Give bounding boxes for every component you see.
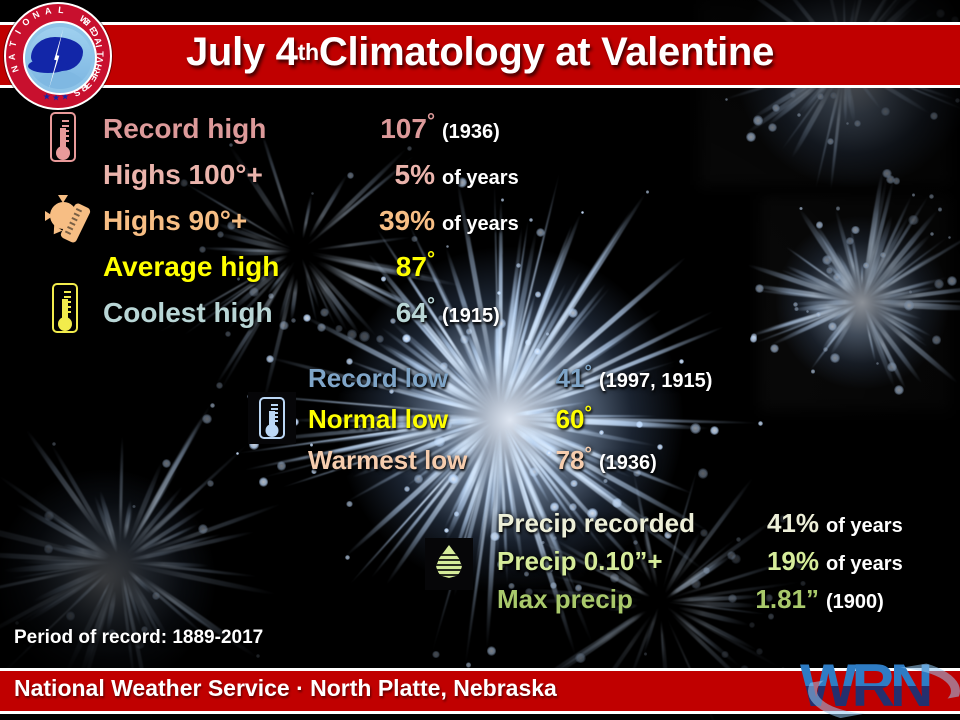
firework-spark <box>908 215 918 225</box>
firework-spark <box>198 524 208 534</box>
firework-spark <box>359 331 370 342</box>
firework-spark <box>259 477 268 486</box>
firework-spark <box>930 232 934 236</box>
degree-symbol: ° <box>585 401 592 422</box>
row-value: 41% <box>737 508 819 539</box>
climatology-row: Record high107°(1936) <box>103 113 500 145</box>
row-label: Max precip <box>497 584 737 615</box>
row-value: 41° <box>520 363 592 394</box>
firework-spark <box>15 621 18 624</box>
firework-spark <box>535 291 541 297</box>
row-year: (1936) <box>442 121 500 144</box>
climatology-row: Average high87° <box>103 251 435 283</box>
climatology-row: Warmest low78°(1936) <box>308 445 657 476</box>
firework-spark <box>947 276 956 285</box>
row-year: (1915) <box>442 305 500 328</box>
firework-spark <box>44 511 54 521</box>
firework-spark <box>955 98 960 103</box>
firework-spark <box>816 221 824 229</box>
firework-spark <box>936 9 944 17</box>
firework-spark <box>909 290 912 293</box>
sun-thermometer-icon <box>48 200 92 244</box>
firework-spark <box>487 646 497 656</box>
row-value: 1.81” <box>737 584 819 615</box>
row-year: (1997, 1915) <box>599 370 712 393</box>
firework-spark <box>811 369 816 374</box>
firework-spark <box>66 611 75 620</box>
row-label: Record high <box>103 113 345 145</box>
row-label: Precip 0.10”+ <box>497 546 737 577</box>
climatology-row: Precip recorded41%of years <box>497 508 903 539</box>
degree-symbol: ° <box>427 295 435 317</box>
climatology-row: Highs 90°+39%of years <box>103 205 519 237</box>
title-suffix: Climatology at Valentine <box>319 30 774 75</box>
row-label: Normal low <box>308 404 520 435</box>
firework-spark <box>912 193 916 197</box>
firework-spark <box>830 353 840 363</box>
firework-ray <box>873 300 903 304</box>
firework-spark <box>836 206 841 211</box>
firework-spark <box>570 480 577 487</box>
wrn-logo: WRN WRN <box>800 652 950 720</box>
title-prefix: July 4 <box>186 30 298 75</box>
row-label: Warmest low <box>308 445 520 476</box>
firework-spark <box>698 468 708 478</box>
climatology-row: Max precip1.81”(1900) <box>497 584 884 615</box>
firework-spark <box>854 120 861 127</box>
firework-spark <box>376 335 383 342</box>
firework-spark <box>904 300 915 311</box>
row-label: Highs 100°+ <box>103 159 345 191</box>
slide-canvas: July 4th Climatology at Valentine NATION… <box>0 0 960 720</box>
firework-spark <box>346 501 353 508</box>
row-label: Precip recorded <box>497 508 737 539</box>
period-of-record: Period of record: 1889-2017 <box>14 627 263 649</box>
firework-spark <box>541 541 544 544</box>
firework-spark <box>881 107 890 116</box>
firework-spark <box>407 146 412 151</box>
firework-spark <box>710 426 719 435</box>
firework-spark <box>225 331 231 337</box>
row-label: Record low <box>308 363 520 394</box>
climatology-row: Record low41°(1997, 1915) <box>308 363 712 394</box>
row-unit: of years <box>442 213 519 236</box>
firework-spark <box>929 194 934 199</box>
firework-spark <box>311 192 314 195</box>
firework-spark <box>501 198 504 201</box>
firework-spark <box>690 423 701 434</box>
firework-spark <box>799 207 803 211</box>
firework-spark <box>863 262 869 268</box>
nws-logo: NATIONAL WEATHERSERVICE★★★ <box>4 2 112 110</box>
row-value: 107° <box>345 113 435 145</box>
firework-spark <box>749 622 755 628</box>
row-label: Coolest high <box>103 297 345 329</box>
row-value: 39% <box>345 205 435 237</box>
firework-spark <box>768 123 777 132</box>
row-unit: of years <box>826 515 903 538</box>
firework-spark <box>772 104 780 112</box>
firework-spark <box>770 344 779 353</box>
nws-logo-inner <box>23 21 97 95</box>
thermometer-red-icon <box>50 112 76 162</box>
firework-spark <box>277 461 286 470</box>
firework-spark <box>210 403 215 408</box>
degree-symbol: ° <box>427 249 435 271</box>
firework-spark <box>823 347 828 352</box>
firework-spark <box>758 421 763 426</box>
thermometer-blue-icon <box>259 397 285 439</box>
row-value: 87° <box>345 251 435 283</box>
row-unit: of years <box>826 553 903 576</box>
firework-spark <box>794 307 799 312</box>
firework-spark <box>646 190 649 193</box>
row-label: Average high <box>103 251 345 283</box>
firework-spark <box>466 662 471 667</box>
firework-spark <box>256 654 260 658</box>
firework-spark <box>746 132 756 142</box>
row-unit: of years <box>442 167 519 190</box>
firework-spark <box>432 651 440 659</box>
climatology-row: Highs 100°+5%of years <box>103 159 519 191</box>
firework-spark <box>751 333 758 340</box>
degree-symbol: ° <box>585 360 592 381</box>
firework-spark <box>644 652 648 656</box>
climatology-row: Precip 0.10”+19%of years <box>497 546 903 577</box>
degree-symbol: ° <box>585 442 592 463</box>
row-value: 19% <box>737 546 819 577</box>
thermometer-yellow-icon <box>52 283 78 333</box>
row-value: 5% <box>345 159 435 191</box>
row-value: 78° <box>520 445 592 476</box>
firework-spark <box>529 218 533 222</box>
firework-spark <box>827 138 834 145</box>
row-value: 64° <box>345 297 435 329</box>
firework-spark <box>44 544 54 554</box>
firework-spark <box>633 540 638 545</box>
row-year: (1900) <box>826 591 884 614</box>
firework-spark <box>851 226 860 235</box>
row-label: Highs 90°+ <box>103 205 345 237</box>
degree-symbol: ° <box>427 111 435 133</box>
row-value: 60° <box>520 404 592 435</box>
page-title: July 4th Climatology at Valentine <box>0 22 960 82</box>
climatology-row: Normal low60° <box>308 404 592 435</box>
climatology-row: Coolest high64°(1915) <box>103 297 500 329</box>
row-year: (1936) <box>599 452 657 475</box>
